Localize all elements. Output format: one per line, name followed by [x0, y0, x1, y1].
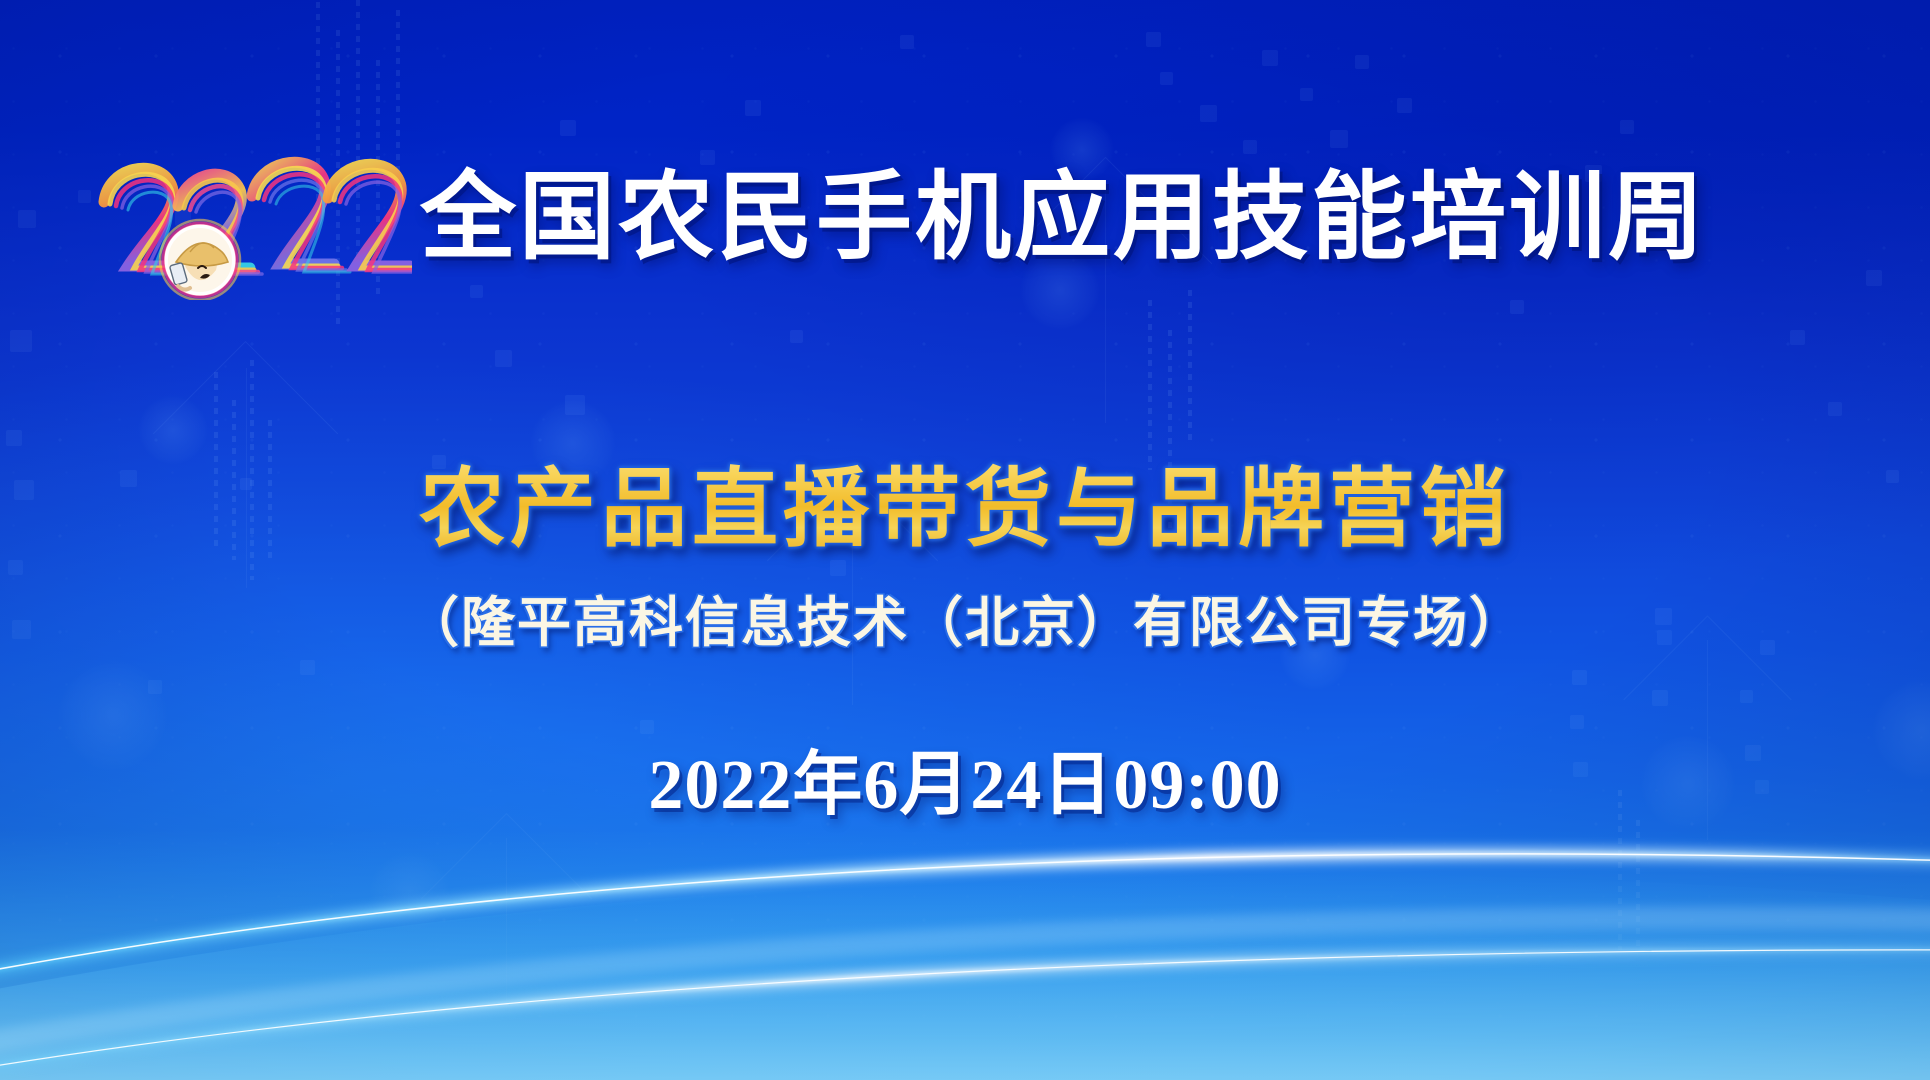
- session-datetime: 2022年6月24日09:00: [0, 728, 1930, 829]
- page-title: 全国农民手机应用技能培训周: [420, 168, 1707, 269]
- year-ribbon-logo: [92, 140, 412, 300]
- poster-canvas: 全国农民手机应用技能培训周 农产品直播带货与品牌营销 （隆平高科信息技术（北京）…: [0, 0, 1930, 1080]
- session-organizer: （隆平高科信息技术（北京）有限公司专场）: [0, 578, 1930, 657]
- ribbon-2022-svg: [92, 140, 412, 300]
- farmer-mascot-icon: [160, 220, 240, 300]
- session-subject: 农产品直播带货与品牌营销: [0, 438, 1930, 563]
